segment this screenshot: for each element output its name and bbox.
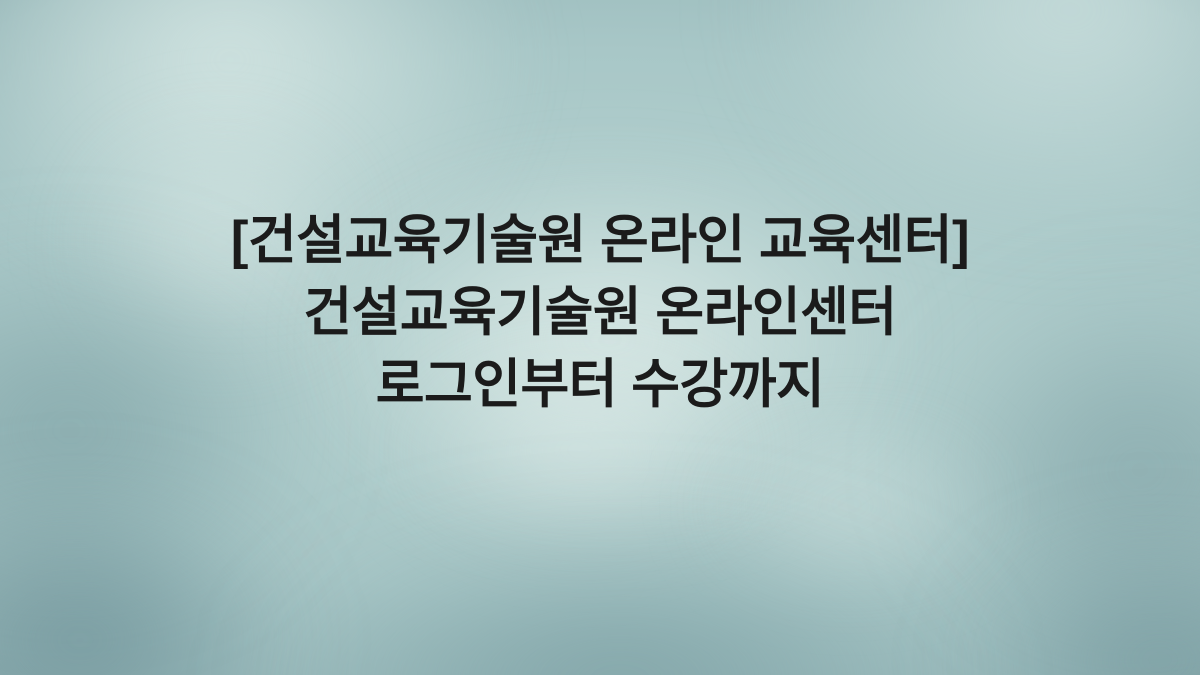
title-line-2: 건설교육기술원 온라인센터 — [40, 277, 1160, 349]
title-line-3: 로그인부터 수강까지 — [40, 349, 1160, 421]
page-title: [건설교육기술원 온라인 교육센터] 건설교육기술원 온라인센터 로그인부터 수… — [0, 205, 1200, 421]
title-line-1: [건설교육기술원 온라인 교육센터] — [40, 205, 1160, 277]
thumbnail-canvas: [건설교육기술원 온라인 교육센터] 건설교육기술원 온라인센터 로그인부터 수… — [0, 0, 1200, 675]
